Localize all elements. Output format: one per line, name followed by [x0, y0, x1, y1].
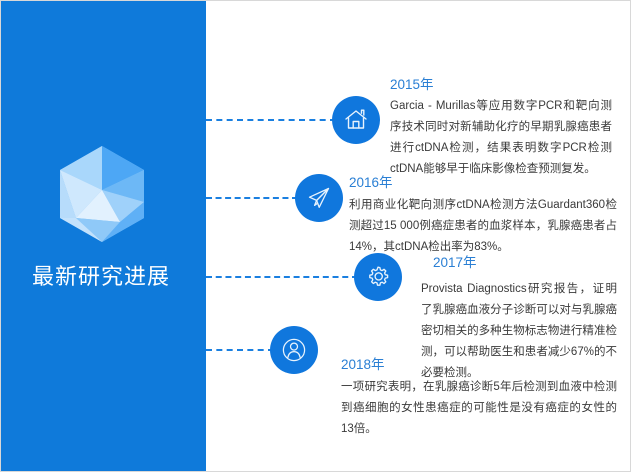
- timeline-year-2016: 2016年: [349, 171, 393, 191]
- timeline-icon-2018[interactable]: [270, 326, 318, 374]
- timeline-text-2017: Provista Diagnostics研究报告，证明了乳腺癌血液分子诊断可以对…: [421, 279, 617, 384]
- page-title: 最新研究进展: [1, 259, 201, 291]
- timeline-text-2016: 利用商业化靶向测序ctDNA检测方法Guardant360检测超过15 000例…: [349, 195, 617, 258]
- timeline-text-2018: 一项研究表明，在乳腺癌诊断5年后检测到血液中检测到癌细胞的女性患癌症的可能性是没…: [341, 377, 617, 440]
- connector-line-2015: [206, 119, 336, 121]
- connector-line-2017: [206, 276, 358, 278]
- gear-icon: [365, 264, 391, 290]
- user-icon: [279, 335, 309, 365]
- home-icon: [343, 107, 369, 133]
- polyhedron-gem-icon: [56, 144, 148, 244]
- left-title-panel: 最新研究进展: [1, 1, 201, 472]
- timeline-icon-2017[interactable]: [354, 253, 402, 301]
- slide-canvas: 最新研究进展 2015年 Garcia - Murillas等应用数字PCR和靶…: [0, 0, 631, 472]
- connector-line-2018: [206, 349, 274, 351]
- paper-plane-icon: [306, 185, 332, 211]
- timeline-year-2015: 2015年: [390, 73, 434, 93]
- timeline-spine: [201, 1, 206, 472]
- timeline-icon-2015[interactable]: [332, 96, 380, 144]
- timeline-text-2015: Garcia - Murillas等应用数字PCR和靶向测序技术同时对新辅助化疗…: [390, 96, 612, 180]
- connector-line-2016: [206, 197, 298, 199]
- timeline-year-2018: 2018年: [341, 353, 385, 373]
- timeline-year-2017: 2017年: [433, 251, 477, 271]
- timeline-icon-2016[interactable]: [295, 174, 343, 222]
